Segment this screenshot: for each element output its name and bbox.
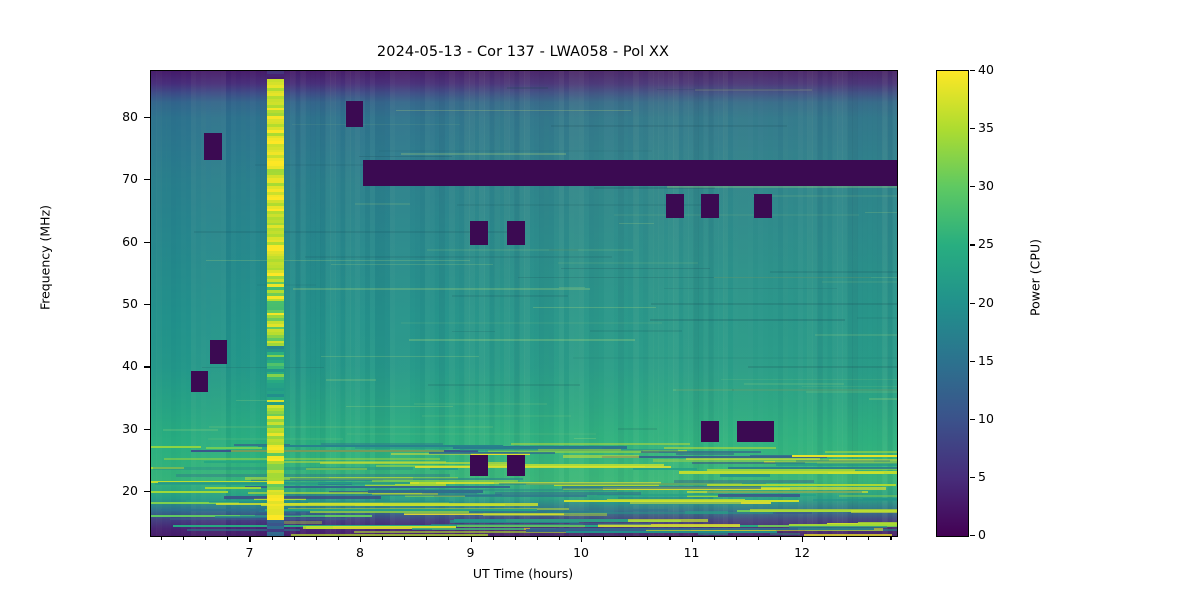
rfi-line	[310, 511, 469, 513]
masked-block	[701, 194, 719, 218]
rfi-line	[650, 319, 845, 321]
rfi-line	[753, 195, 897, 197]
colorbar[interactable]	[936, 70, 969, 537]
y-axis-tick-label: 80	[18, 109, 138, 124]
x-axis-minor-tick	[294, 536, 295, 540]
x-axis-minor-tick	[669, 536, 670, 540]
y-axis-tick	[144, 429, 150, 430]
rfi-line	[633, 468, 697, 470]
rfi-line	[457, 525, 585, 527]
rfi-line	[686, 458, 820, 460]
y-axis-tick	[144, 491, 150, 492]
rfi-line	[321, 356, 479, 358]
x-axis-minor-tick	[736, 536, 737, 540]
rfi-line	[452, 331, 494, 333]
rfi-line	[806, 391, 897, 393]
rfi-line	[825, 451, 897, 453]
rfi-line	[231, 450, 445, 452]
rfi-line	[770, 533, 800, 535]
masked-block	[754, 194, 772, 218]
colorbar-tick-label: 5	[978, 469, 986, 484]
rfi-line	[412, 528, 524, 530]
rfi-line	[748, 366, 897, 368]
rfi-line	[651, 303, 897, 305]
colorbar-tick-label: 40	[978, 62, 994, 77]
rfi-line	[580, 466, 617, 468]
x-axis-tick-label: 8	[330, 545, 390, 560]
colorbar-tick	[970, 477, 975, 478]
rfi-line	[839, 495, 897, 497]
rfi-line	[422, 415, 571, 417]
x-axis-minor-tick	[338, 536, 339, 540]
x-axis-minor-tick	[714, 536, 715, 540]
rfi-line	[558, 262, 698, 264]
rfi-line	[224, 496, 380, 499]
x-axis-minor-tick	[824, 536, 825, 540]
heatmap-image	[151, 71, 897, 536]
x-axis-tick-label: 11	[662, 545, 722, 560]
x-axis-minor-tick	[227, 536, 228, 540]
colorbar-tick	[970, 186, 975, 187]
rfi-line	[164, 458, 441, 460]
x-axis-tick	[581, 536, 582, 542]
y-axis-tick-label: 70	[18, 171, 138, 186]
rfi-line	[414, 403, 547, 405]
rfi-line	[483, 513, 607, 516]
rfi-line	[721, 379, 897, 381]
chart-title: 2024-05-13 - Cor 137 - LWA058 - Pol XX	[0, 44, 1046, 60]
rfi-line	[813, 499, 897, 501]
colorbar-tick	[970, 419, 975, 420]
x-axis-tick-label: 12	[772, 545, 832, 560]
colorbar-tick-label: 20	[978, 295, 994, 310]
x-axis-minor-tick	[625, 536, 626, 540]
x-axis-minor-tick	[603, 536, 604, 540]
rfi-line	[744, 383, 844, 385]
rfi-line	[802, 386, 897, 388]
rfi-line	[163, 429, 218, 431]
y-axis-tick	[144, 179, 150, 180]
rfi-line	[359, 156, 453, 158]
colorbar-tick	[970, 303, 975, 304]
masked-block	[507, 455, 525, 476]
rfi-line	[792, 455, 897, 457]
x-axis-minor-tick	[559, 536, 560, 540]
x-axis-minor-tick	[448, 536, 449, 540]
rfi-line	[303, 526, 333, 529]
rfi-line	[331, 264, 492, 266]
rfi-line	[750, 509, 897, 512]
masked-block	[470, 455, 488, 476]
rfi-line	[563, 455, 639, 458]
x-axis-tick	[802, 536, 803, 542]
masked-block	[470, 221, 488, 245]
rfi-line	[714, 277, 897, 279]
y-axis-label: Frequency (MHz)	[38, 158, 53, 358]
rfi-line	[430, 468, 458, 470]
rfi-line	[664, 288, 837, 290]
rfi-line	[379, 150, 651, 152]
x-axis-minor-tick	[426, 536, 427, 540]
x-axis-tick	[360, 536, 361, 542]
x-axis-minor-tick	[316, 536, 317, 540]
rfi-line	[804, 534, 892, 536]
x-axis-minor-tick	[205, 536, 206, 540]
figure-canvas: 2024-05-13 - Cor 137 - LWA058 - Pol XX 2…	[0, 0, 1200, 600]
rfi-line	[452, 295, 568, 297]
rfi-line	[429, 452, 555, 454]
rfi-line	[293, 288, 591, 290]
rfi-line	[346, 406, 453, 408]
y-axis-tick-label: 40	[18, 358, 138, 373]
colorbar-tick	[970, 361, 975, 362]
rfi-line	[216, 503, 383, 505]
x-axis-tick-label: 9	[441, 545, 501, 560]
colorbar-tick-label: 15	[978, 353, 994, 368]
rfi-line	[728, 467, 897, 469]
rfi-line	[427, 249, 633, 251]
rfi-line	[770, 271, 897, 273]
rfi-line	[597, 502, 741, 505]
rfi-line	[633, 509, 667, 511]
rfi-line	[205, 487, 261, 489]
x-axis-label: UT Time (hours)	[373, 566, 673, 581]
rfi-line	[561, 268, 710, 270]
rfi-line	[855, 468, 897, 470]
rfi-line	[685, 511, 727, 514]
bright-band-row	[267, 534, 284, 536]
y-axis-tick	[144, 117, 150, 118]
rfi-line	[206, 447, 261, 449]
x-axis-tick-label: 7	[219, 545, 279, 560]
rfi-line	[858, 522, 897, 524]
rfi-line	[533, 307, 656, 309]
x-axis-minor-tick	[890, 536, 891, 540]
rfi-line	[619, 223, 654, 225]
rfi-line	[170, 518, 347, 520]
colorbar-tick	[970, 128, 975, 129]
rfi-line	[495, 492, 640, 495]
y-axis-tick-label: 50	[18, 296, 138, 311]
x-axis-tick	[692, 536, 693, 542]
x-axis-minor-tick	[515, 536, 516, 540]
masked-block	[701, 421, 719, 443]
colorbar-tick-label: 30	[978, 178, 994, 193]
rfi-line	[530, 528, 798, 530]
rfi-line	[355, 203, 410, 205]
colorbar-tick	[970, 70, 975, 71]
x-axis-minor-tick	[382, 536, 383, 540]
y-axis-tick-label: 60	[18, 234, 138, 249]
rfi-line	[292, 124, 460, 126]
x-axis-minor-tick	[846, 536, 847, 540]
x-axis-minor-tick	[272, 536, 273, 540]
rfi-line	[460, 449, 677, 451]
y-axis-tick	[144, 366, 150, 367]
x-axis-minor-tick	[161, 536, 162, 540]
y-axis-tick	[144, 304, 150, 305]
masked-block	[210, 340, 228, 364]
rfi-line	[204, 461, 267, 463]
rfi-line	[209, 426, 493, 428]
colorbar-tick-label: 0	[978, 527, 986, 542]
masked-block	[346, 101, 364, 127]
rfi-line	[695, 89, 813, 91]
rfi-line	[865, 212, 897, 214]
masked-block	[737, 421, 775, 443]
rfi-line	[869, 398, 897, 400]
rfi-line	[590, 330, 682, 332]
rfi-line	[290, 478, 523, 480]
rfi-line	[151, 491, 228, 493]
rfi-line	[720, 474, 770, 477]
rfi-line	[401, 322, 662, 324]
y-axis-tick	[144, 242, 150, 243]
colorbar-tick-label: 10	[978, 411, 994, 426]
x-axis-minor-tick	[868, 536, 869, 540]
masked-block	[507, 221, 525, 245]
rfi-line	[641, 451, 761, 453]
rfi-line	[815, 334, 897, 336]
rfi-line	[828, 472, 884, 474]
colorbar-tick	[970, 244, 975, 245]
rfi-line	[209, 501, 453, 503]
colorbar-tick-label: 25	[978, 236, 994, 251]
rfi-line	[286, 494, 503, 496]
rfi-line	[396, 110, 632, 112]
rfi-line	[618, 497, 713, 499]
rfi-line	[796, 460, 890, 462]
x-axis-tick	[471, 536, 472, 542]
rfi-line	[618, 428, 657, 430]
rfi-line	[409, 339, 635, 341]
colorbar-gradient	[937, 71, 968, 536]
rfi-line	[368, 490, 483, 493]
rfi-line	[215, 516, 270, 518]
colorbar-tick-label: 35	[978, 120, 994, 135]
x-axis-tick	[249, 536, 250, 542]
rfi-line	[562, 486, 761, 489]
rfi-line	[206, 260, 470, 262]
rfi-line	[507, 87, 548, 89]
colorbar-label: Power (CPU)	[1028, 178, 1043, 378]
rfi-line	[822, 281, 897, 283]
colorbar-tick	[970, 535, 975, 536]
x-axis-minor-tick	[780, 536, 781, 540]
rfi-line	[151, 446, 201, 448]
y-axis-tick-label: 30	[18, 421, 138, 436]
x-axis-minor-tick	[493, 536, 494, 540]
x-axis-minor-tick	[647, 536, 648, 540]
heatmap-bright-band	[267, 71, 284, 536]
rfi-line	[347, 433, 596, 435]
masked-block	[191, 371, 209, 393]
rfi-line	[511, 443, 691, 445]
rfi-line	[664, 447, 775, 449]
rfi-line	[614, 214, 859, 216]
spectrogram-plot-area[interactable]	[150, 70, 898, 537]
rfi-line	[676, 453, 734, 455]
x-axis-tick-label: 10	[551, 545, 611, 560]
rfi-line	[573, 357, 897, 359]
rfi-line	[673, 389, 897, 391]
rfi-line	[202, 367, 324, 369]
rfi-line	[305, 256, 612, 258]
x-axis-minor-tick	[758, 536, 759, 540]
rfi-line	[551, 125, 786, 127]
rfi-line	[707, 491, 862, 493]
masked-block	[666, 194, 684, 218]
x-axis-minor-tick	[537, 536, 538, 540]
rfi-line	[401, 153, 565, 155]
rfi-line	[566, 531, 776, 533]
masked-block	[204, 133, 222, 160]
x-axis-minor-tick	[404, 536, 405, 540]
rfi-line	[574, 438, 596, 440]
x-axis-minor-tick	[183, 536, 184, 540]
masked-block	[363, 160, 897, 186]
y-axis-tick-label: 20	[18, 483, 138, 498]
rfi-line	[428, 384, 580, 386]
rfi-line	[291, 534, 488, 536]
rfi-line	[454, 519, 628, 522]
rfi-line	[607, 499, 745, 501]
rfi-line	[718, 494, 800, 497]
rfi-line	[857, 317, 897, 319]
rfi-line	[326, 379, 376, 381]
